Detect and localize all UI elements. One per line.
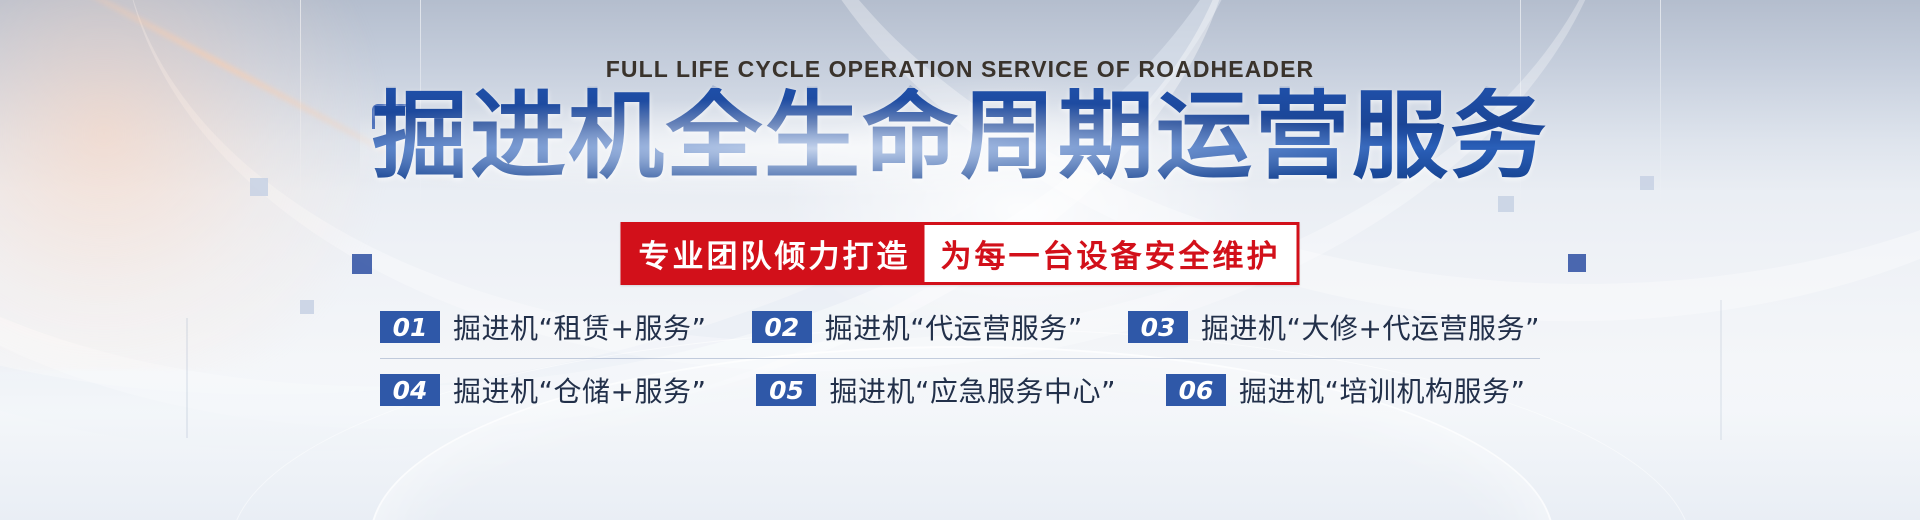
service-list: 01 掘进机“租赁+服务” 02 掘进机“代运营服务” 03 掘进机“大修+代运… — [380, 296, 1540, 421]
service-item-03[interactable]: 03 掘进机“大修+代运营服务” — [1128, 307, 1540, 347]
tagline-ribbon: 专业团队倾力打造 为每一台设备安全维护 — [621, 222, 1300, 285]
service-label: 掘进机“应急服务中心” — [829, 370, 1116, 410]
service-number-badge: 02 — [752, 311, 812, 343]
service-item-05[interactable]: 05 掘进机“应急服务中心” — [756, 370, 1116, 410]
tagline-secondary: 为每一台设备安全维护 — [925, 225, 1297, 282]
service-label: 掘进机“代运营服务” — [825, 307, 1083, 347]
promo-banner: FULL LIFE CYCLE OPERATION SERVICE OF ROA… — [0, 0, 1920, 520]
service-item-02[interactable]: 02 掘进机“代运营服务” — [752, 307, 1083, 347]
banner-headline: 掘进机全生命周期运营服务 — [0, 88, 1920, 184]
service-label: 掘进机“培训机构服务” — [1239, 370, 1526, 410]
service-number-badge: 04 — [380, 374, 440, 406]
service-number-badge: 01 — [380, 311, 440, 343]
service-label: 掘进机“大修+代运营服务” — [1201, 307, 1540, 347]
tagline-primary: 专业团队倾力打造 — [621, 225, 925, 282]
service-item-04[interactable]: 04 掘进机“仓储+服务” — [380, 370, 706, 410]
service-number-badge: 06 — [1166, 374, 1226, 406]
service-row: 01 掘进机“租赁+服务” 02 掘进机“代运营服务” 03 掘进机“大修+代运… — [380, 296, 1540, 359]
service-item-06[interactable]: 06 掘进机“培训机构服务” — [1166, 370, 1526, 410]
banner-content: FULL LIFE CYCLE OPERATION SERVICE OF ROA… — [0, 0, 1920, 520]
service-number-badge: 03 — [1128, 311, 1188, 343]
service-item-01[interactable]: 01 掘进机“租赁+服务” — [380, 307, 706, 347]
service-row: 04 掘进机“仓储+服务” 05 掘进机“应急服务中心” 06 掘进机“培训机构… — [380, 359, 1540, 421]
banner-eyebrow-english: FULL LIFE CYCLE OPERATION SERVICE OF ROA… — [0, 56, 1920, 83]
service-label: 掘进机“租赁+服务” — [453, 307, 706, 347]
service-label: 掘进机“仓储+服务” — [453, 370, 706, 410]
service-number-badge: 05 — [756, 374, 816, 406]
